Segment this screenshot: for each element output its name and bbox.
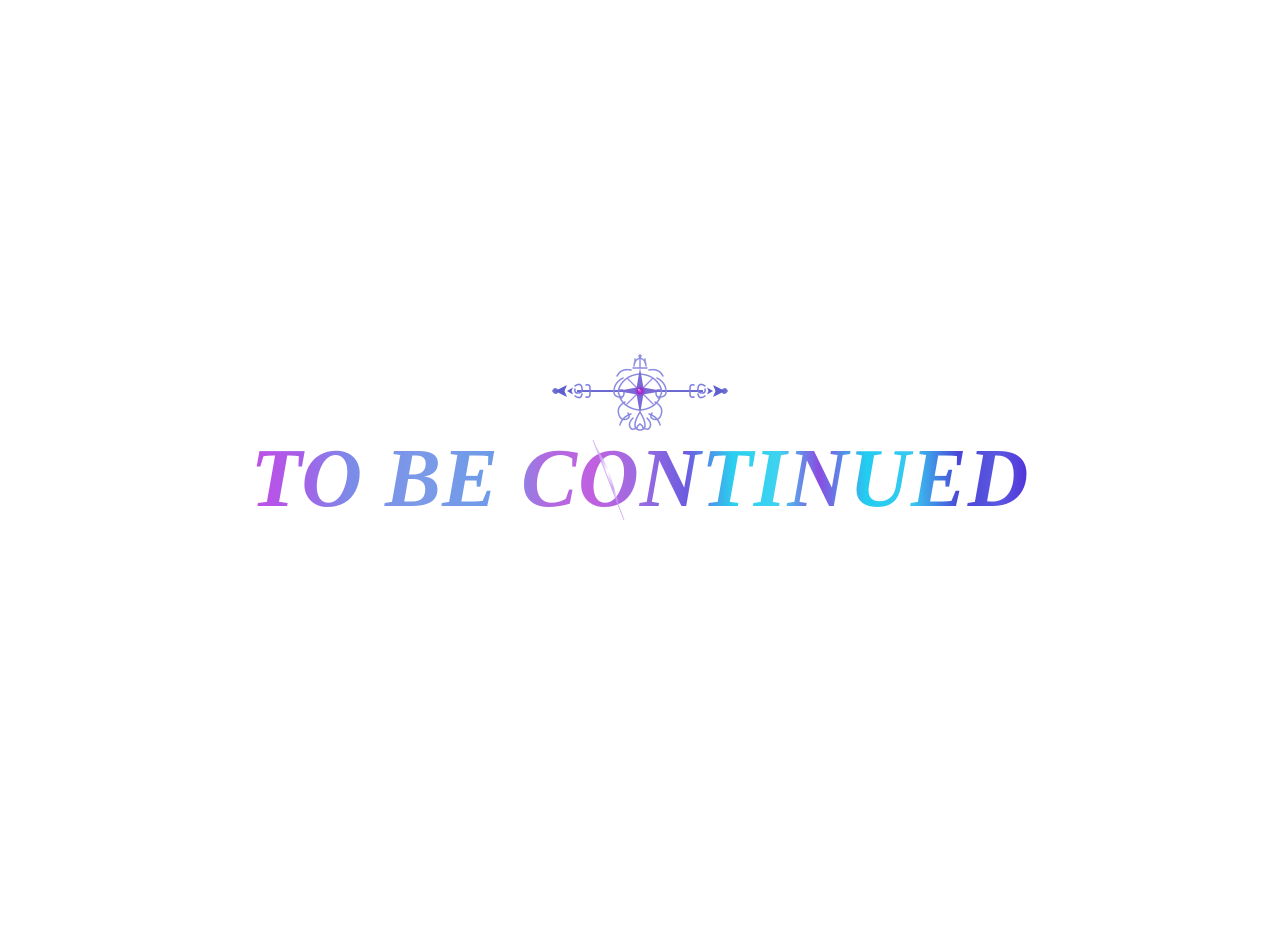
ornament-medallion [614,354,666,430]
medallion-center-ring [635,386,645,396]
ornament-right-arrow [707,385,728,397]
ornament-divider [0,352,1280,430]
compass-star-icon [617,368,663,414]
ornament-left-arrow [552,385,573,397]
headline-text: TO BE CONTINUED [251,432,1030,525]
screen-canvas: TO BE CONTINUED [0,0,1280,940]
compass-star-minor-rays [627,378,653,404]
ornament-right-scrolls [690,384,705,397]
headline-container: TO BE CONTINUED [0,432,1280,532]
ornament-flourish-icon [545,352,735,430]
ornament-left-scrolls [575,384,590,397]
to-be-continued-title: TO BE CONTINUED [290,432,990,532]
medallion-center-dot [637,388,644,395]
